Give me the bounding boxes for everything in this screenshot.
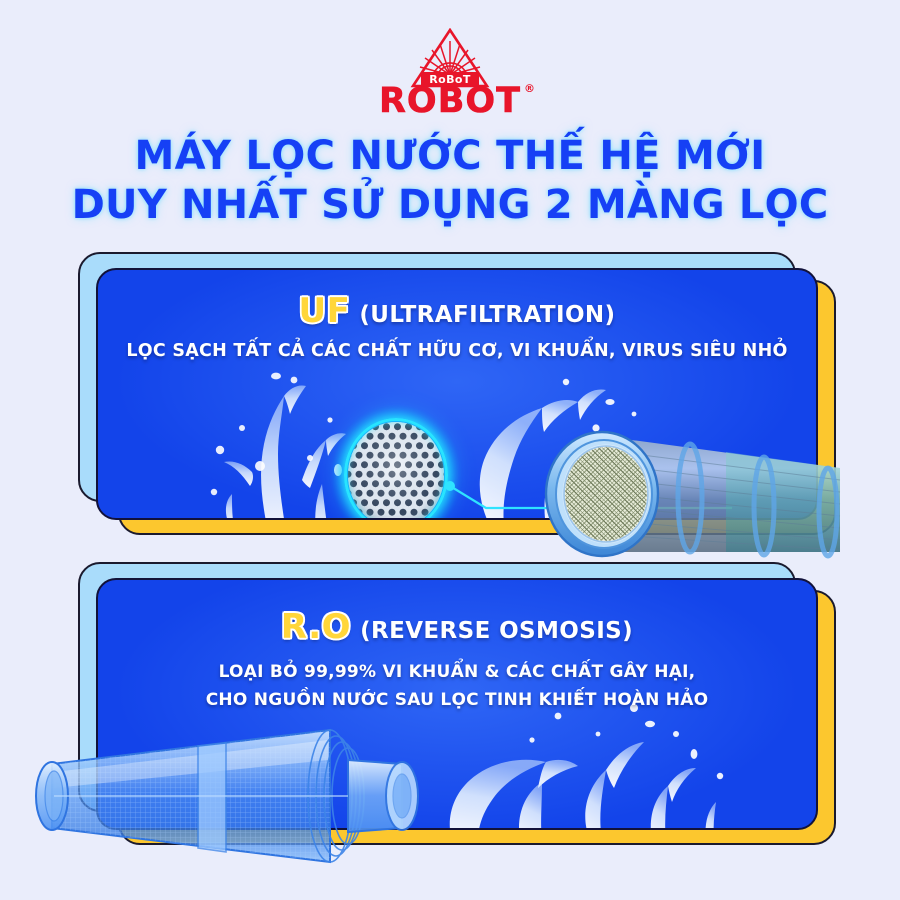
uf-callout-line <box>442 478 742 520</box>
page-title-line-2: DUY NHẤT SỬ DỤNG 2 MÀNG LỌC <box>0 181 900 230</box>
card-ro-full-name: (REVERSE OSMOSIS) <box>360 620 633 643</box>
brand-logo: RoBoT ROBOT® <box>0 28 900 119</box>
card-ro-description-line-2: CHO NGUỒN NƯỚC SAU LỌC TINH KHIẾT HOÀN H… <box>98 688 816 712</box>
card-uf-description: LỌC SẠCH TẤT CẢ CÁC CHẤT HỮU CƠ, VI KHUẨ… <box>98 339 816 364</box>
water-splash-uf-right <box>450 366 680 520</box>
card-uf-full-name: (ULTRAFILTRATION) <box>359 304 615 327</box>
card-uf: UF (ULTRAFILTRATION) LỌC SẠCH TẤT CẢ CÁC… <box>78 252 838 542</box>
brand-wordmark: ROBOT® <box>379 84 521 119</box>
card-uf-abbreviation: UF <box>299 294 351 328</box>
brand-wordmark-text: ROBOT <box>379 81 521 121</box>
uf-membrane-disc-ring <box>344 418 448 520</box>
poster-canvas: RoBoT ROBOT® MÁY LỌC NƯỚC THẾ HỆ MỚI DUY… <box>0 0 900 900</box>
card-uf-title-row: UF (ULTRAFILTRATION) <box>98 294 816 328</box>
card-uf-text: UF (ULTRAFILTRATION) LỌC SẠCH TẤT CẢ CÁC… <box>98 294 816 364</box>
registered-trademark-icon: ® <box>524 83 536 94</box>
uf-membrane-disc <box>344 418 448 520</box>
card-ro-panel: R.O (REVERSE OSMOSIS) LOẠI BỎ 99,99% VI … <box>96 578 818 830</box>
card-ro: R.O (REVERSE OSMOSIS) LOẠI BỎ 99,99% VI … <box>78 562 838 852</box>
card-uf-panel: UF (ULTRAFILTRATION) LỌC SẠCH TẤT CẢ CÁC… <box>96 268 818 520</box>
page-title-line-1: MÁY LỌC NƯỚC THẾ HỆ MỚI <box>0 132 900 181</box>
card-ro-description-line-1: LOẠI BỎ 99,99% VI KHUẨN & CÁC CHẤT GÂY H… <box>98 660 816 684</box>
card-ro-title-row: R.O (REVERSE OSMOSIS) <box>98 610 816 644</box>
card-ro-text: R.O (REVERSE OSMOSIS) LOẠI BỎ 99,99% VI … <box>98 610 816 712</box>
page-title: MÁY LỌC NƯỚC THẾ HỆ MỚI DUY NHẤT SỬ DỤNG… <box>0 132 900 230</box>
card-ro-abbreviation: R.O <box>281 610 351 644</box>
